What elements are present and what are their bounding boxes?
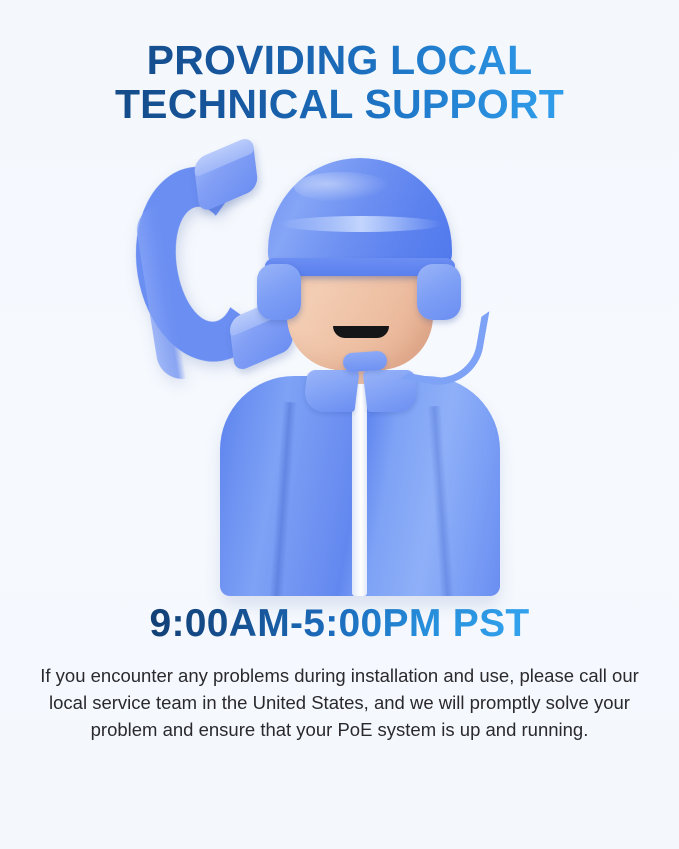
support-agent-illustration bbox=[0, 141, 679, 596]
support-poster: PROVIDING LOCAL TECHNICAL SUPPORT bbox=[0, 0, 679, 849]
agent-figure bbox=[215, 146, 505, 596]
agent-cap-highlight-top bbox=[294, 172, 390, 202]
headset-mic-boom-icon bbox=[400, 298, 489, 392]
page-title-line-1: PROVIDING LOCAL bbox=[60, 38, 620, 82]
agent-jacket-zipper bbox=[352, 384, 367, 596]
support-description: If you encounter any problems during ins… bbox=[40, 646, 640, 744]
support-hours: 9:00AM-5:00PM PST bbox=[149, 596, 529, 646]
headset-earcup-left-icon bbox=[257, 264, 301, 320]
agent-cap-highlight-band bbox=[280, 216, 442, 232]
page-title: PROVIDING LOCAL TECHNICAL SUPPORT bbox=[60, 0, 620, 127]
agent-collar-left bbox=[302, 370, 359, 412]
headset-mic-tip-icon bbox=[342, 350, 387, 372]
page-title-line-2: TECHNICAL SUPPORT bbox=[60, 82, 620, 126]
agent-cap bbox=[268, 158, 452, 270]
agent-mouth bbox=[333, 326, 389, 338]
